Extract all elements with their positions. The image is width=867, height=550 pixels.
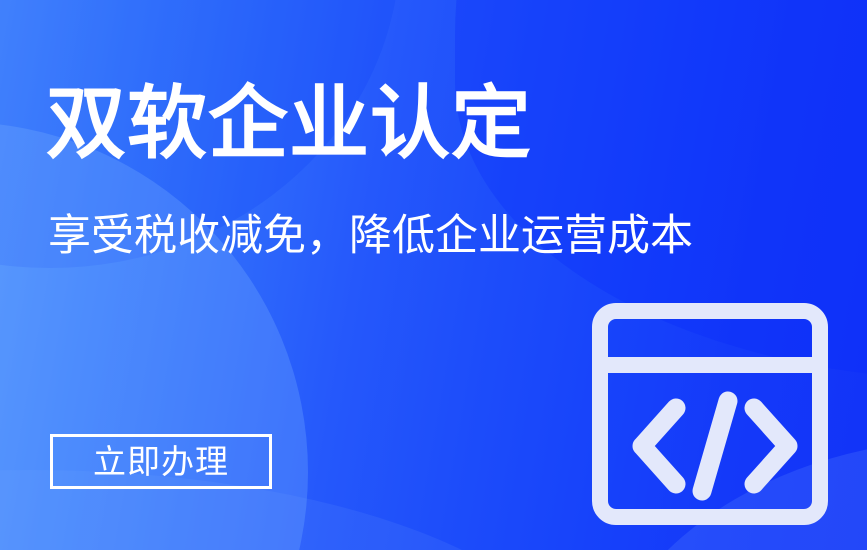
promo-banner: 双软企业认定 享受税收减免，降低企业运营成本 立即办理 [0, 0, 867, 550]
banner-subheadline: 享受税收减免，降低企业运营成本 [48, 215, 693, 258]
apply-now-button[interactable]: 立即办理 [50, 434, 272, 489]
banner-headline: 双软企业认定 [46, 84, 532, 164]
banner-content: 双软企业认定 享受税收减免，降低企业运营成本 立即办理 [0, 0, 867, 550]
